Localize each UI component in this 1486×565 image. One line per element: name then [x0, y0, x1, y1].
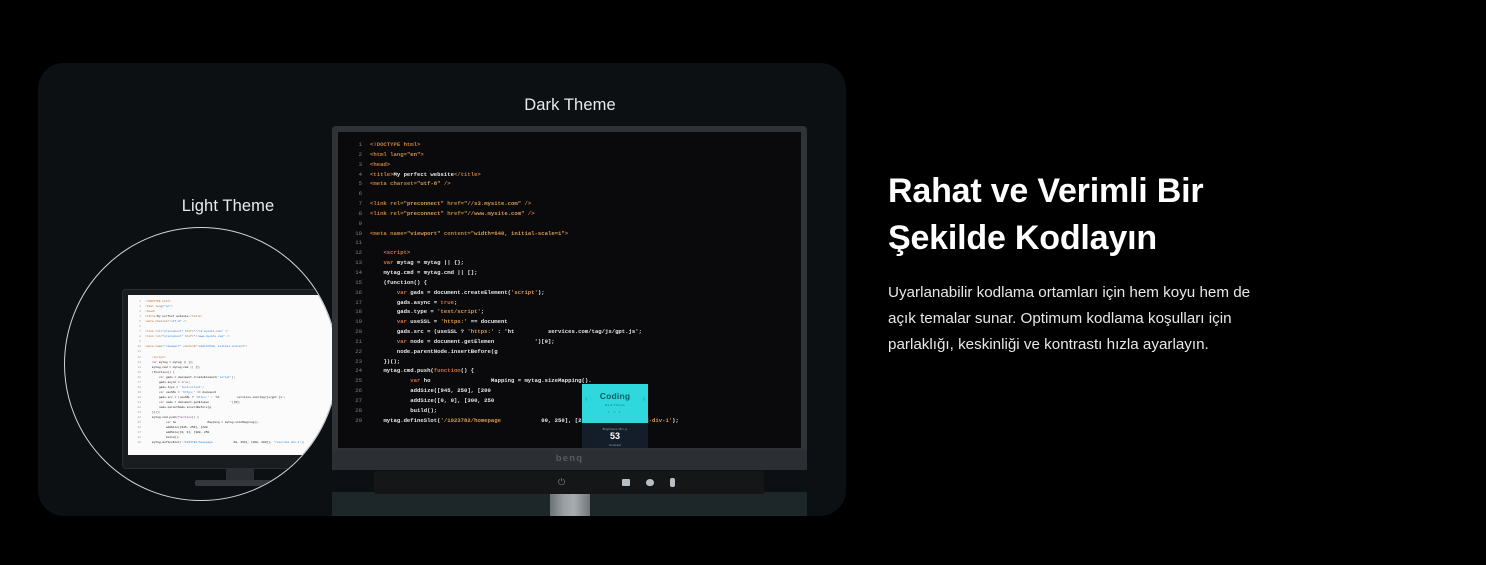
- line-number: 29: [348, 416, 362, 426]
- code-token: rel=: [390, 200, 403, 207]
- line-number: 15: [348, 278, 362, 288]
- code-token: charset=: [155, 320, 169, 323]
- line-number: 13: [348, 258, 362, 268]
- code-token: ')[0];: [209, 401, 240, 404]
- code-token: useSSL =: [166, 391, 182, 394]
- code-token: name=: [390, 230, 407, 237]
- code-token: "preconnect": [404, 210, 444, 217]
- code-token: build();: [166, 436, 180, 439]
- code-line: 4<title>My perfect website</title>: [348, 170, 679, 180]
- code-token: "width=640, initial-scale=1": [471, 230, 565, 237]
- code-token: 'reserved-div-1': [273, 441, 301, 444]
- code-token: var: [397, 318, 410, 325]
- code-token: ;: [481, 308, 484, 315]
- code-token: />: [521, 200, 531, 207]
- code-token: mytag.cmd = mytag.cmd || [];: [152, 366, 201, 369]
- code-token: Mapping = mytag.sizeMapping().: [176, 421, 259, 424]
- code-line: 3<head>: [348, 160, 679, 170]
- code-token: ;: [639, 328, 642, 335]
- line-number: 4: [348, 170, 362, 180]
- code-token: var: [159, 376, 166, 379]
- line-number: 25: [348, 376, 362, 386]
- code-token: "utf-8": [417, 180, 441, 187]
- osd-settings-list: Brightness (B.I.+)53Contrast50Low Blue L…: [582, 423, 648, 448]
- code-token: node = document.getElemen: [166, 401, 209, 404]
- headline-line-1: Rahat ve Verimli Bir: [888, 172, 1203, 210]
- code-token: '/1023782/homepage: [181, 441, 212, 444]
- light-theme-label: Light Theme: [138, 197, 318, 216]
- line-number: 3: [348, 160, 362, 170]
- code-token: : 'ht: [209, 396, 219, 399]
- dark-monitor-bezel: 1<!DOCTYPE html>2<html lang="en">3<head>…: [332, 126, 807, 470]
- code-token: charset=: [390, 180, 417, 187]
- code-token: gads.async =: [159, 381, 182, 384]
- code-token: "//www.mysite.com": [464, 210, 524, 217]
- code-token: () {: [461, 367, 474, 374]
- code-token: content=: [441, 230, 471, 237]
- code-token: href=: [183, 330, 193, 333]
- promo-page: Light Theme Dark Theme 1<!DOCTYPE html>2…: [0, 0, 1486, 565]
- power-icon[interactable]: ⏻: [558, 477, 565, 488]
- code-token: Mapping = mytag.sizeMapping().: [430, 377, 591, 384]
- code-token: == document: [467, 318, 507, 325]
- code-line: 20 gads.src = (useSSL ? 'https:' : 'ht s…: [348, 327, 679, 337]
- osd-mode-header: ‹ › Coding Dark Theme • • •: [582, 384, 648, 423]
- code-token: <script>: [383, 249, 410, 256]
- osd-setting-row[interactable]: Brightness (B.I.+)53: [582, 427, 648, 442]
- code-token: useSSL =: [410, 318, 440, 325]
- code-token: node.parentNode.insertBefore(g: [397, 348, 498, 355]
- line-number: 8: [348, 209, 362, 219]
- code-token: var: [166, 421, 173, 424]
- code-token: >: [420, 151, 423, 158]
- line-number: 7: [348, 199, 362, 209]
- code-token: <title>: [145, 315, 157, 318]
- code-token: node = document.getElemen: [410, 338, 494, 345]
- code-line: 13 var mytag = mytag || {};: [348, 258, 679, 268]
- page-description: Uyarlanabilir kodlama ortamları için hem…: [888, 280, 1268, 358]
- code-line: 11: [348, 238, 679, 248]
- line-number: 24: [348, 366, 362, 376]
- code-line: 8<link rel="preconnect" href="//www.mysi…: [348, 209, 679, 219]
- osd-mode-subtitle: Dark Theme: [582, 403, 648, 407]
- light-code-editor: 1<!DOCTYPE html>2<html lang="en">3<head>…: [132, 299, 305, 445]
- code-token: <link: [370, 210, 390, 217]
- osd-setting-row[interactable]: Contrast50: [582, 443, 648, 448]
- osd-mode-title: Coding: [582, 384, 648, 401]
- code-token: "//www.mysite.com": [194, 335, 225, 338]
- code-line: 16 var gads = document.createElement('sc…: [348, 288, 679, 298]
- line-number: 29: [132, 440, 141, 445]
- code-token: gads = document.createElement(: [166, 376, 218, 379]
- code-token: 'script': [511, 289, 538, 296]
- code-line: 10<meta name="viewport" content="width=6…: [348, 229, 679, 239]
- code-line: 18 gads.type = 'text/script';: [348, 307, 679, 317]
- code-token: 'text/script': [180, 386, 203, 389]
- code-token: function: [178, 416, 192, 419]
- light-sensor-icon[interactable]: [670, 478, 675, 487]
- code-token: 'https:': [181, 391, 195, 394]
- osd-setting-value: 50: [582, 447, 648, 448]
- line-number: 20: [348, 327, 362, 337]
- code-token: My perfect website: [157, 315, 188, 318]
- code-token: mytag.defineSlot(: [383, 417, 440, 424]
- code-token: addSize([0, 0], [300, 250: [410, 397, 494, 404]
- code-token: <link: [145, 330, 155, 333]
- code-token: <meta: [145, 345, 155, 348]
- eye-sensor-icon[interactable]: [646, 479, 654, 486]
- light-theme-monitor: 1<!DOCTYPE html>2<html lang="en">3<head>…: [123, 290, 338, 490]
- benq-logo: benq: [332, 453, 807, 464]
- code-token: (function() {: [152, 371, 175, 374]
- code-token: ')[0];: [494, 338, 554, 345]
- code-token: mytag.cmd = mytag.cmd || [];: [383, 269, 477, 276]
- code-token: ;: [188, 381, 190, 384]
- code-line: 9: [348, 219, 679, 229]
- code-token: var: [383, 259, 396, 266]
- code-token: />: [223, 330, 228, 333]
- code-token: var: [410, 377, 423, 384]
- code-token: "viewport": [164, 345, 181, 348]
- code-token: node.parentNode.insertBefore(g: [159, 406, 211, 409]
- code-token: "//s3.mysite.com": [194, 330, 224, 333]
- code-token: })();: [383, 358, 400, 365]
- line-number: 17: [348, 298, 362, 308]
- code-token: "preconnect": [404, 200, 444, 207]
- code-line: 23 })();: [348, 357, 679, 367]
- code-line: 14 mytag.cmd = mytag.cmd || [];: [348, 268, 679, 278]
- code-token: gads.src = (useSSL ?: [159, 396, 195, 399]
- line-number: 1: [348, 140, 362, 150]
- code-token: 00, 250], [200, 200]],: [213, 441, 274, 444]
- code-line: 1<!DOCTYPE html>: [348, 140, 679, 150]
- code-token: "//s3.mysite.com": [464, 200, 521, 207]
- code-token: <head>: [370, 161, 390, 168]
- code-token: var: [159, 401, 166, 404]
- code-token: var: [397, 338, 410, 345]
- code-token: <!DOCTYPE html>: [370, 141, 420, 148]
- code-token: 'https:': [467, 328, 494, 335]
- code-token: mytag.cmd.push(: [383, 367, 433, 374]
- light-monitor-bezel: 1<!DOCTYPE html>2<html lang="en">3<head>…: [123, 290, 338, 468]
- monitor-control-bar[interactable]: ⏻: [374, 471, 764, 494]
- code-token: 'https:': [195, 396, 209, 399]
- code-token: >: [171, 305, 173, 308]
- code-token: var: [152, 361, 159, 364]
- code-token: addSize([945, 250], [200: [410, 387, 491, 394]
- code-token: var: [159, 391, 166, 394]
- code-token: );: [232, 376, 235, 379]
- code-token: mytag.cmd.push(: [152, 416, 178, 419]
- osd-setting-value: 53: [582, 431, 648, 442]
- dark-theme-monitor: 1<!DOCTYPE html>2<html lang="en">3<head>…: [332, 126, 810, 516]
- code-token: () {: [192, 416, 199, 419]
- code-token: );: [672, 417, 679, 424]
- code-token: <head>: [145, 310, 155, 313]
- line-number: 16: [348, 288, 362, 298]
- code-token: services.com/tag/js/gpt.js': [514, 328, 638, 335]
- code-token: == document: [195, 391, 216, 394]
- line-number: 6: [348, 189, 362, 199]
- code-token: href=: [183, 335, 193, 338]
- line-number: 11: [348, 238, 362, 248]
- code-token: true: [441, 299, 454, 306]
- light-theme-inset: 1<!DOCTYPE html>2<html lang="en">3<head>…: [64, 227, 338, 501]
- code-token: gads = document.createElement(: [410, 289, 511, 296]
- code-line: 2<html lang="en">: [348, 150, 679, 160]
- code-token: 'text/script': [437, 308, 481, 315]
- code-token: "utf-8": [169, 320, 181, 323]
- code-line: 12 <script>: [348, 248, 679, 258]
- monitor-stand-neck: [550, 494, 590, 516]
- chevron-left-icon[interactable]: ‹: [585, 396, 587, 403]
- code-token: name=: [155, 345, 164, 348]
- chevron-right-icon[interactable]: ›: [643, 396, 645, 403]
- code-token: ;: [284, 396, 286, 399]
- code-token: content=: [181, 345, 197, 348]
- page-title: Rahat ve Verimli Bir Şekilde Kodlayın: [888, 168, 1268, 262]
- code-token: />: [524, 210, 534, 217]
- dark-monitor-screen: 1<!DOCTYPE html>2<html lang="en">3<head>…: [338, 132, 801, 448]
- code-token: <link: [145, 335, 155, 338]
- code-token: <meta: [370, 230, 390, 237]
- code-token: "en": [407, 151, 420, 158]
- code-token: addSize([0, 0], [300, 250: [166, 431, 209, 434]
- marketing-text-column: Rahat ve Verimli Bir Şekilde Kodlayın Uy…: [888, 168, 1268, 358]
- code-line: 15 (function() {: [348, 278, 679, 288]
- product-visual-card: Light Theme Dark Theme 1<!DOCTYPE html>2…: [38, 63, 846, 516]
- code-token: <html: [370, 151, 390, 158]
- line-number: 28: [348, 406, 362, 416]
- osd-panel[interactable]: ‹ › Coding Dark Theme • • • Brightness (…: [582, 384, 648, 448]
- line-number: 14: [348, 268, 362, 278]
- code-token: </title>: [454, 171, 481, 178]
- code-token: );: [538, 289, 545, 296]
- code-line: 29 mytag.defineSlot('/1023782/homepage 0…: [132, 440, 305, 445]
- line-number: 5: [348, 179, 362, 189]
- headline-line-2: Şekilde Kodlayın: [888, 219, 1157, 257]
- code-token: addSize([945, 250], [200: [166, 426, 208, 429]
- code-token: build();: [410, 407, 437, 414]
- code-token: "viewport": [407, 230, 441, 237]
- code-line: 17 gads.async = true;: [348, 298, 679, 308]
- code-token: : 'ht: [494, 328, 514, 335]
- code-token: <!DOCTYPE html>: [145, 300, 171, 303]
- code-token: gads.src = (useSSL ?: [397, 328, 468, 335]
- code-token: <title>: [370, 171, 394, 178]
- code-token: services.com/tag/js/gpt.js': [220, 396, 284, 399]
- code-token: My perfect website: [394, 171, 454, 178]
- code-token: function: [434, 367, 461, 374]
- code-token: rel=: [390, 210, 403, 217]
- dark-theme-label: Dark Theme: [440, 96, 700, 115]
- code-token: >: [565, 230, 568, 237]
- code-token: ;: [202, 386, 204, 389]
- code-line: 22 node.parentNode.insertBefore(g: [348, 347, 679, 357]
- line-number: 22: [348, 347, 362, 357]
- code-token: gads.type =: [397, 308, 437, 315]
- code-token: href=: [444, 200, 464, 207]
- code-token: <meta: [370, 180, 390, 187]
- code-token: "preconnect": [162, 330, 183, 333]
- line-number: 2: [348, 150, 362, 160]
- display-icon[interactable]: [622, 479, 630, 486]
- light-monitor-screen: 1<!DOCTYPE html>2<html lang="en">3<head>…: [128, 295, 338, 455]
- line-number: 27: [348, 396, 362, 406]
- code-line: 24 mytag.cmd.push(function() {: [348, 366, 679, 376]
- line-number: 19: [348, 317, 362, 327]
- code-token: 'script': [218, 376, 232, 379]
- code-token: />: [441, 180, 451, 187]
- light-monitor-stand-base: [195, 480, 287, 486]
- code-token: </title>: [188, 315, 202, 318]
- code-line: 19 var useSSL = 'https:' == document: [348, 317, 679, 327]
- dark-code-editor: 1<!DOCTYPE html>2<html lang="en">3<head>…: [348, 140, 679, 425]
- code-token: href=: [444, 210, 464, 217]
- code-token: "preconnect": [162, 335, 183, 338]
- code-token: mytag = mytag || {};: [397, 259, 464, 266]
- code-token: lang=: [390, 151, 407, 158]
- code-token: (function() {: [383, 279, 427, 286]
- code-line: 7<link rel="preconnect" href="//s3.mysit…: [348, 199, 679, 209]
- code-token: var: [397, 289, 410, 296]
- code-token: lang=: [155, 305, 164, 308]
- code-token: />: [181, 320, 186, 323]
- line-number: 21: [348, 337, 362, 347]
- code-token: >: [246, 345, 248, 348]
- code-token: <link: [370, 200, 390, 207]
- code-token: '/1023782/homepage: [441, 417, 501, 424]
- code-token: gads.async =: [397, 299, 441, 306]
- code-token: "width=640, initial-scale=1": [197, 345, 246, 348]
- code-token: })();: [152, 411, 161, 414]
- code-token: mytag = mytag || {};: [159, 361, 194, 364]
- code-token: ;: [454, 299, 457, 306]
- code-token: mytag.defineSlot(: [152, 441, 182, 444]
- line-number: 12: [348, 248, 362, 258]
- line-number: 10: [348, 229, 362, 239]
- code-token: <script>: [152, 356, 166, 359]
- code-token: 'https:': [441, 318, 468, 325]
- code-token: />: [225, 335, 230, 338]
- line-number: 23: [348, 357, 362, 367]
- line-number: 9: [348, 219, 362, 229]
- osd-page-dots[interactable]: • • •: [582, 410, 648, 414]
- code-line: 21 var node = document.getElemen ')[0];: [348, 337, 679, 347]
- code-line: 6: [348, 189, 679, 199]
- code-token: <html: [145, 305, 155, 308]
- line-number: 26: [348, 386, 362, 396]
- code-token: gads.type =: [159, 386, 180, 389]
- code-token: <meta: [145, 320, 155, 323]
- line-number: 18: [348, 307, 362, 317]
- code-token: );: [301, 441, 304, 444]
- code-line: 5<meta charset="utf-8" />: [348, 179, 679, 189]
